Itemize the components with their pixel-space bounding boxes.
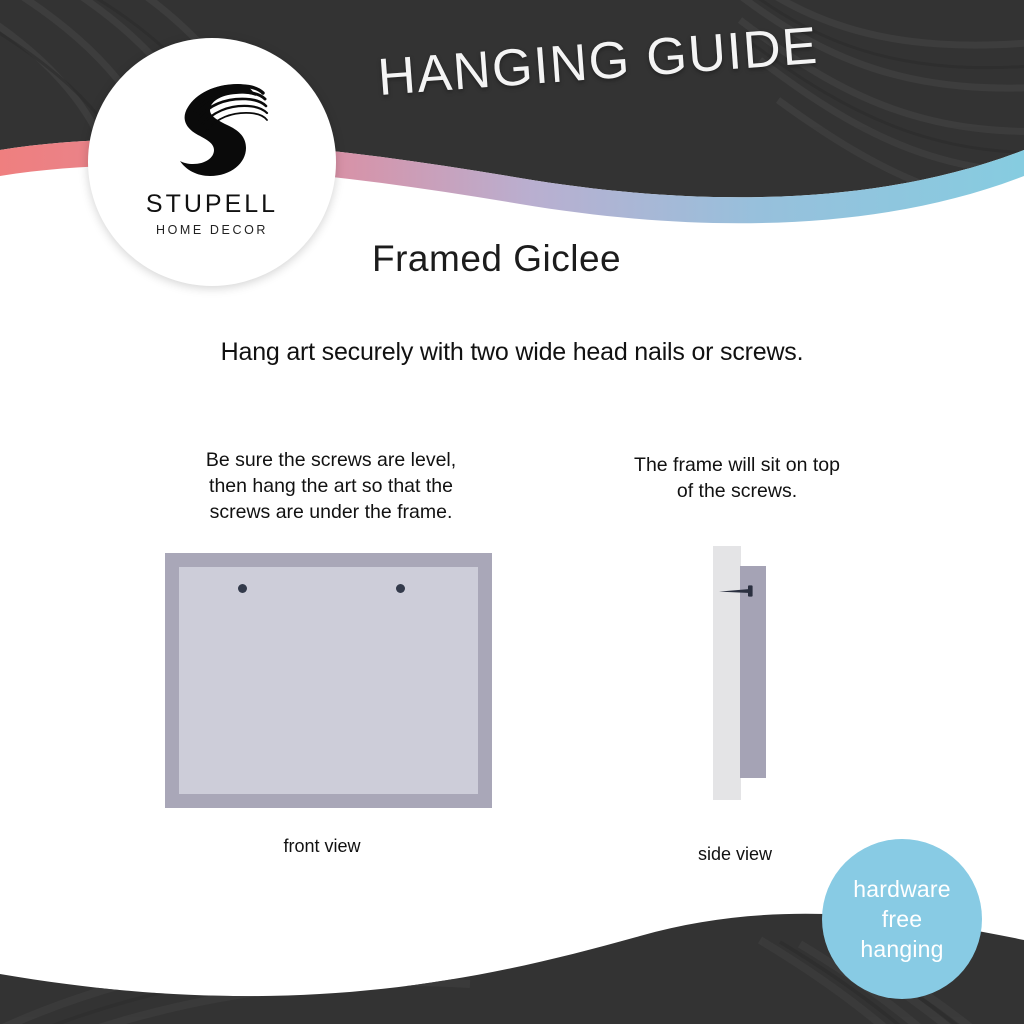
hanging-guide-page: HANGING GUIDE STUPELL HOME DECOR Framed … <box>0 0 1024 1024</box>
hardware-free-hanging-badge: hardware free hanging <box>822 839 982 999</box>
front-view-label: front view <box>196 836 448 857</box>
side-caption-line-1: The frame will sit on top <box>592 452 882 478</box>
brand-logo-badge: STUPELL HOME DECOR <box>88 38 336 286</box>
side-view-label: side view <box>632 844 838 865</box>
front-caption-line-2: then hang the art so that the <box>136 473 526 499</box>
nail-icon <box>717 584 761 598</box>
frame-mat <box>179 567 478 794</box>
lead-instruction: Hang art securely with two wide head nai… <box>0 338 1024 367</box>
front-caption-line-1: Be sure the screws are level, <box>136 447 526 473</box>
front-view-diagram <box>165 553 492 808</box>
stupell-s-swoosh-logo-icon <box>152 66 272 186</box>
product-type-label: Framed Giclee <box>372 238 621 280</box>
page-title: HANGING GUIDE <box>376 16 821 108</box>
side-caption-line-2: of the screws. <box>592 478 882 504</box>
badge-line-3: hanging <box>860 934 943 964</box>
side-view-diagram <box>705 540 785 810</box>
badge-line-2: free <box>882 904 922 934</box>
front-view-caption: Be sure the screws are level, then hang … <box>136 447 526 525</box>
badge-line-1: hardware <box>853 874 951 904</box>
front-caption-line-3: screws are under the frame. <box>136 499 526 525</box>
screw-dot-left <box>238 584 247 593</box>
screw-dot-right <box>396 584 405 593</box>
brand-name: STUPELL <box>146 192 278 217</box>
side-view-caption: The frame will sit on top of the screws. <box>592 452 882 504</box>
brand-tagline: HOME DECOR <box>156 224 268 237</box>
